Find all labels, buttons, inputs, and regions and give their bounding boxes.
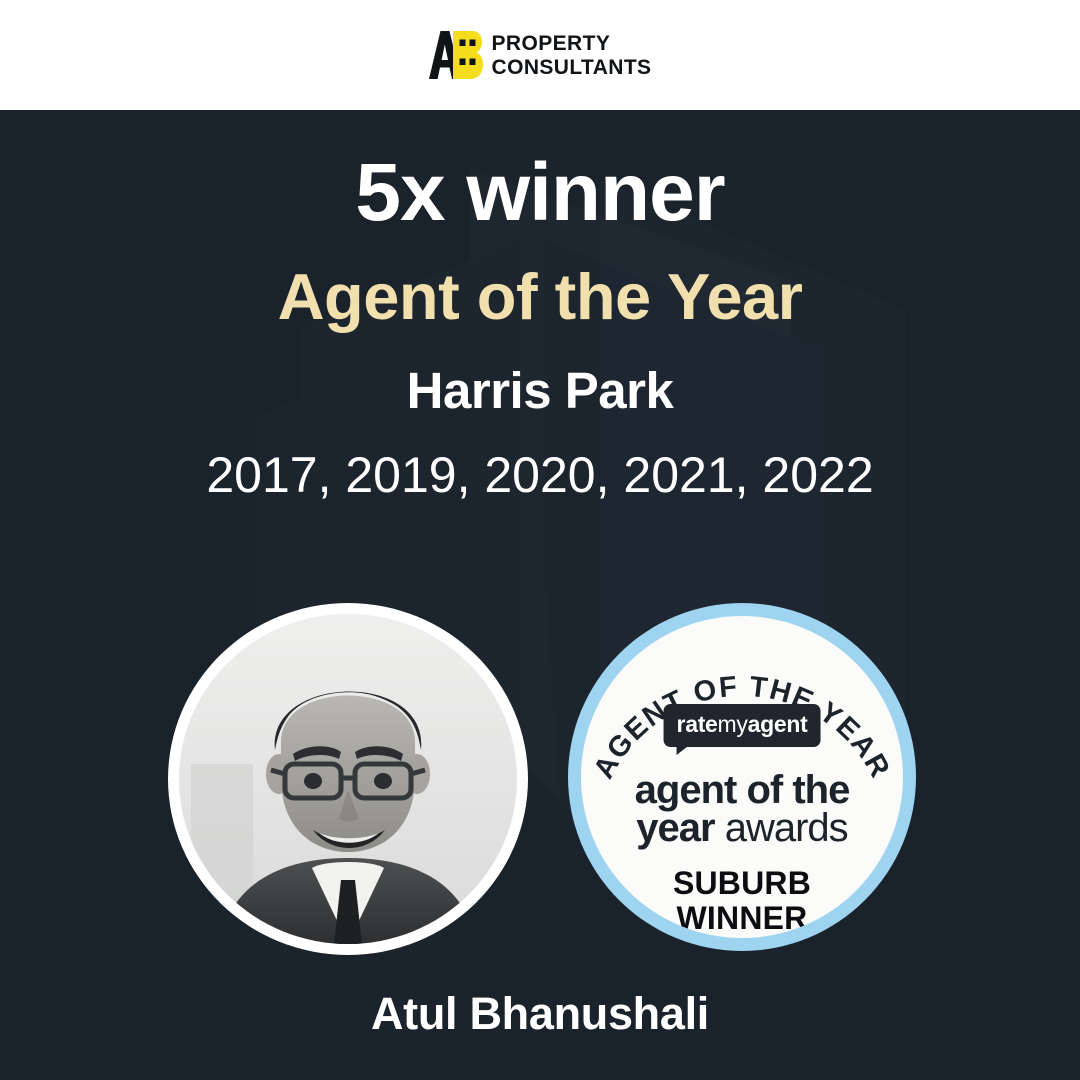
suburb-heading: Harris Park [0, 365, 1080, 416]
award-badge-title: agent of the year awards [581, 771, 903, 848]
headline-block: 5x winner Agent of the Year Harris Park … [0, 110, 1080, 500]
rma-rate-text: rate [677, 711, 718, 737]
ab-monogram-icon [429, 31, 483, 79]
award-badge-face: AGENT OF THE YEAR ratemyagent agent of t… [581, 616, 903, 938]
brand-wordmark: PROPERTY CONSULTANTS [492, 33, 652, 78]
badge-title-year-word: year [636, 806, 714, 850]
brand-header-band: PROPERTY CONSULTANTS [0, 0, 1080, 110]
brand-line-consultants: CONSULTANTS [492, 57, 652, 78]
badge-title-line-1: agent of the [581, 771, 903, 809]
agent-portrait-image [179, 614, 517, 944]
badge-title-line-2: year awards [581, 809, 903, 847]
agent-portrait [168, 603, 528, 955]
badge-title-awards-word: awards [725, 806, 848, 850]
brand-line-property: PROPERTY [492, 33, 652, 54]
award-badge: AGENT OF THE YEAR ratemyagent agent of t… [568, 603, 916, 951]
brand-logo: PROPERTY CONSULTANTS [429, 31, 652, 79]
agent-name: Atul Bhanushali [0, 988, 1080, 1040]
award-years-list: 2017, 2019, 2020, 2021, 2022 [0, 450, 1080, 500]
badge-subtitle-line-2: WINNER [581, 901, 903, 936]
rma-agent-text: agent [748, 711, 808, 737]
badge-subtitle-line-1: SUBURB [581, 866, 903, 901]
ratemyagent-logo: ratemyagent [664, 704, 821, 747]
winner-count-heading: 5x winner [0, 152, 1080, 234]
award-badge-subtitle: SUBURB WINNER [581, 866, 903, 935]
award-title-heading: Agent of the Year [0, 264, 1080, 329]
rma-my-text: my [718, 711, 748, 737]
award-social-card: PROPERTY CONSULTANTS 5x winner Agent of … [0, 0, 1080, 1080]
